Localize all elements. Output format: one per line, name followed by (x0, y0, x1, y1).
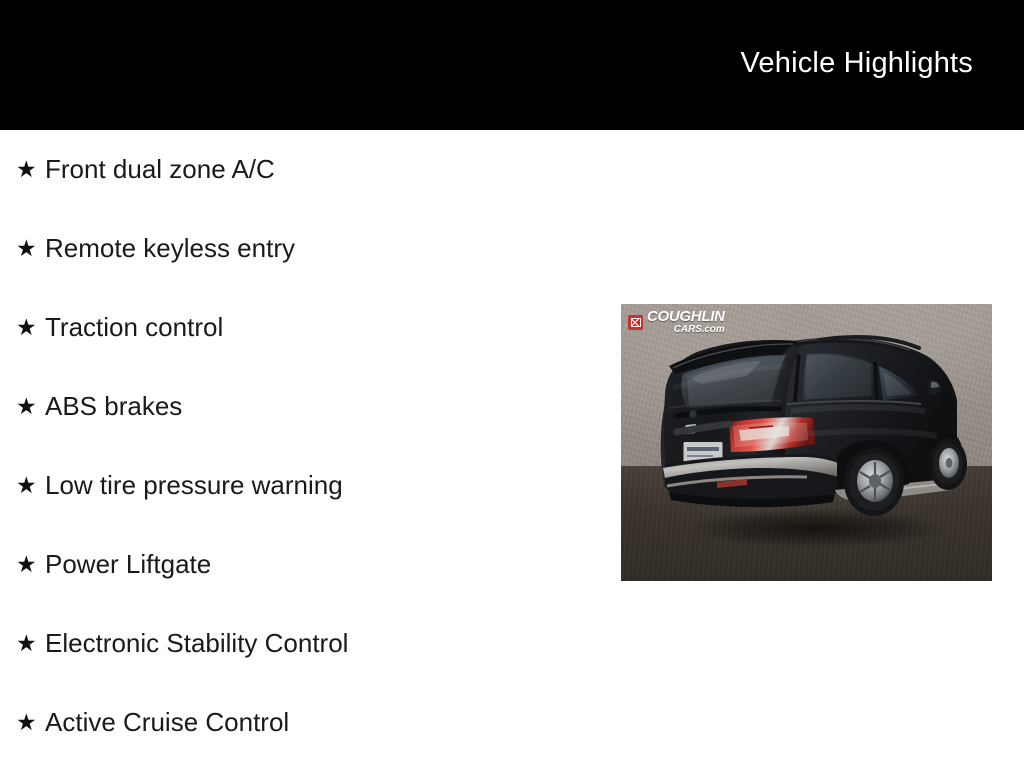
list-item: ★ Electronic Stability Control (0, 604, 600, 683)
list-item: ★ Traction control (0, 288, 600, 367)
star-icon: ★ (16, 395, 45, 418)
star-icon: ★ (16, 474, 45, 497)
watermark-subtitle: CARS.com (647, 325, 725, 335)
list-item-label: Power Liftgate (45, 550, 211, 579)
header-bar: Vehicle Highlights (0, 0, 1024, 130)
page-title: Vehicle Highlights (740, 47, 973, 80)
list-item-label: Electronic Stability Control (45, 629, 348, 658)
list-item-label: Remote keyless entry (45, 234, 295, 263)
star-icon: ★ (16, 553, 45, 576)
dealer-watermark: COUGHLIN CARS.com (628, 309, 725, 335)
list-item-label: Front dual zone A/C (45, 155, 275, 184)
list-item-label: Low tire pressure warning (45, 471, 343, 500)
star-icon: ★ (16, 316, 45, 339)
watermark-brand: COUGHLIN (647, 309, 725, 324)
list-item-label: ABS brakes (45, 392, 182, 421)
star-icon: ★ (16, 158, 45, 181)
list-item: ★ Active Cruise Control (0, 683, 600, 762)
list-item: ★ Remote keyless entry (0, 209, 600, 288)
list-item: ★ Front dual zone A/C (0, 130, 600, 209)
list-item: ★ ABS brakes (0, 367, 600, 446)
star-icon: ★ (16, 237, 45, 260)
suv-illustration (621, 304, 992, 581)
watermark-text: COUGHLIN CARS.com (647, 309, 725, 335)
star-icon: ★ (16, 632, 45, 655)
list-item: ★ Power Liftgate (0, 525, 600, 604)
list-item-label: Traction control (45, 313, 223, 342)
vehicle-photo: COUGHLIN CARS.com (621, 304, 992, 581)
star-icon: ★ (16, 711, 45, 734)
vehicle-highlights-list: ★ Front dual zone A/C ★ Remote keyless e… (0, 130, 600, 762)
coughlin-logo-icon (628, 315, 643, 330)
list-item-label: Active Cruise Control (45, 708, 289, 737)
list-item: ★ Low tire pressure warning (0, 446, 600, 525)
